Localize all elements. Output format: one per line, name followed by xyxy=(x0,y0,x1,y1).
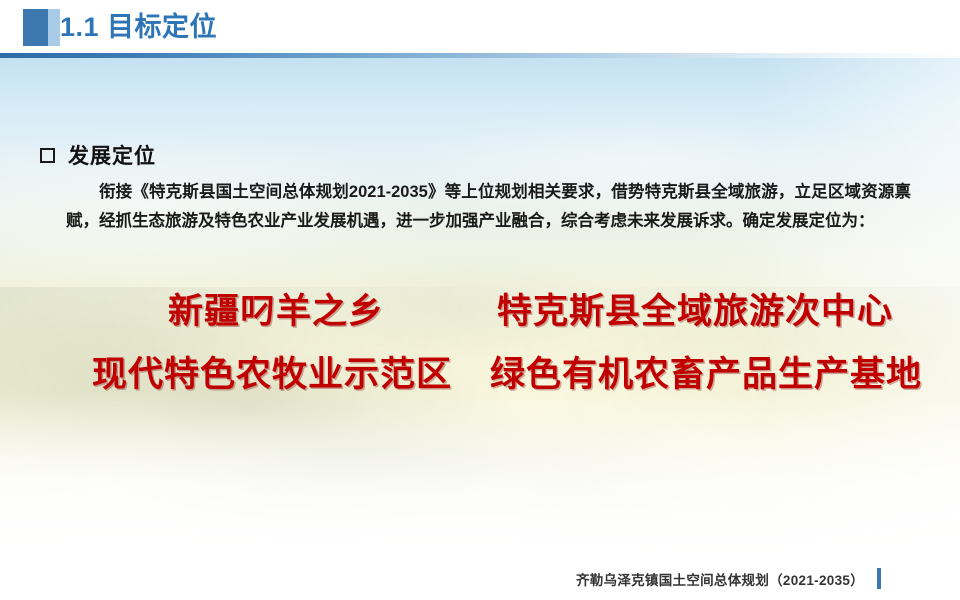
header-accent-block-light xyxy=(48,9,60,46)
hollow-square-bullet-icon xyxy=(40,148,55,163)
footer-accent-bar xyxy=(877,568,881,589)
body-paragraph: 衔接《特克斯县国土空间总体规划2021-2035》等上位规划相关要求，借势特克斯… xyxy=(66,178,911,236)
slogan-group: 新疆叼羊之乡 特克斯县全域旅游次中心 现代特色农牧业示范区 绿色有机农畜产品生产… xyxy=(0,283,960,397)
page-title: 1.1 目标定位 xyxy=(60,7,217,47)
slogan-item: 绿色有机农畜产品生产基地 xyxy=(490,346,922,397)
slide-footer: 齐勒乌泽克镇国土空间总体规划（2021-2035） xyxy=(0,560,960,600)
slogan-item: 新疆叼羊之乡 xyxy=(168,283,384,334)
footer-label: 齐勒乌泽克镇国土空间总体规划（2021-2035） xyxy=(576,569,864,589)
section-heading: 发展定位 xyxy=(40,140,156,170)
slogan-row-2: 现代特色农牧业示范区 绿色有机农畜产品生产基地 xyxy=(0,346,960,397)
header-accent-block-dark xyxy=(23,9,48,46)
slide-content: 发展定位 衔接《特克斯县国土空间总体规划2021-2035》等上位规划相关要求，… xyxy=(0,57,960,560)
slide: 1.1 目标定位 发展定位 衔接《特克斯县国土空间总体规划2021-2035》等… xyxy=(0,0,960,600)
slogan-item: 特克斯县全域旅游次中心 xyxy=(497,283,893,334)
section-heading-label: 发展定位 xyxy=(68,140,156,170)
slide-header: 1.1 目标定位 xyxy=(0,0,960,57)
slogan-row-1: 新疆叼羊之乡 特克斯县全域旅游次中心 xyxy=(0,283,960,334)
slogan-item: 现代特色农牧业示范区 xyxy=(92,346,452,397)
